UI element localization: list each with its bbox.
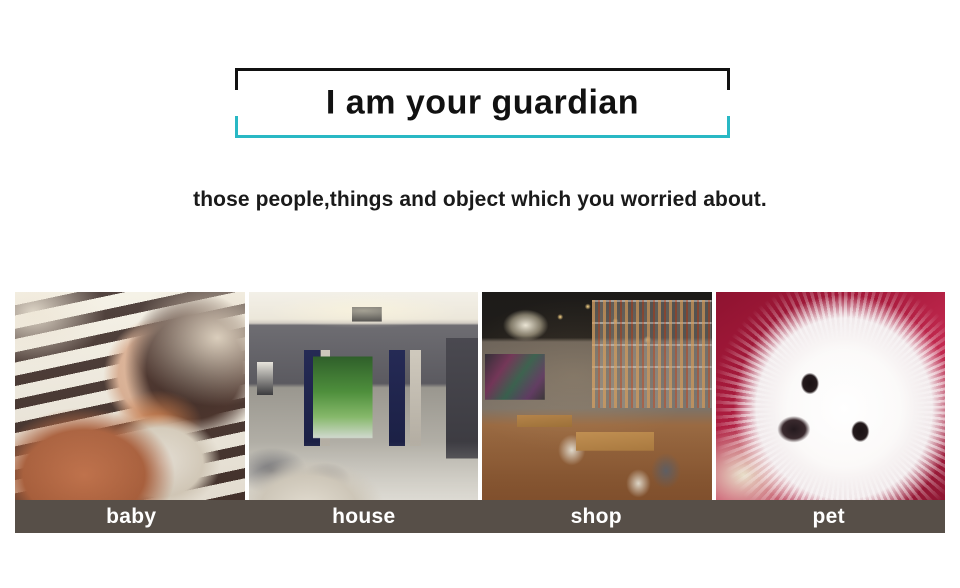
page-subtitle: those people,things and object which you… xyxy=(0,188,960,212)
caption-house: house xyxy=(248,500,481,533)
page-title: I am your guardian xyxy=(235,84,730,123)
heading-block: I am your guardian xyxy=(235,68,730,138)
photo-gallery xyxy=(15,292,945,500)
caption-shop: shop xyxy=(480,500,713,533)
gallery-photo-house xyxy=(249,292,479,500)
pet-photo-image xyxy=(716,292,946,500)
gallery-photo-shop xyxy=(482,292,712,500)
shop-photo-image xyxy=(482,292,712,500)
gallery-caption-bar: baby house shop pet xyxy=(15,500,945,533)
house-photo-image xyxy=(249,292,479,500)
gallery-photo-baby xyxy=(15,292,245,500)
baby-photo-image xyxy=(15,292,245,500)
caption-pet: pet xyxy=(713,500,946,533)
caption-baby: baby xyxy=(15,500,248,533)
gallery-photo-pet xyxy=(716,292,946,500)
